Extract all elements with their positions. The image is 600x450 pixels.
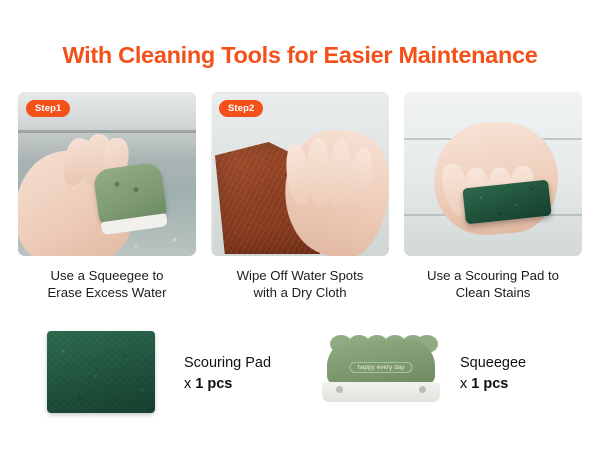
caption-line: Clean Stains [404,284,582,301]
step-card-3: Use a Scouring Pad to Clean Stains [404,92,582,302]
caption-line: with a Dry Cloth [211,284,389,301]
squeegee-screw [336,386,343,393]
step-2-photo: Step2 [211,92,389,256]
squeegee-screw [419,386,426,393]
step-badge: Step1 [26,100,70,117]
step-card-2: Step2 Wipe Off Water Spots with a Dry Cl… [211,92,389,302]
promo-page: With Cleaning Tools for Easier Maintenan… [0,0,600,450]
product-quantity: x 1 pcs [184,376,271,392]
scouring-pad-product-image [47,331,155,413]
scouring-pad-label: Scouring Pad x 1 pcs [184,354,271,392]
caption-line: Erase Excess Water [18,284,196,301]
step-1-caption: Use a Squeegee to Erase Excess Water [18,267,196,302]
product-list-row: Scouring Pad x 1 pcs happy every day Squ… [0,318,600,428]
product-name: Scouring Pad [184,354,271,373]
caption-line: Wipe Off Water Spots [211,267,389,284]
step-3-caption: Use a Scouring Pad to Clean Stains [404,267,582,302]
pad-texture [47,331,155,413]
squeegee-detail-dot [133,187,139,193]
steps-row: Step1 Use a Squeegee to Erase Excess Wat… [18,92,582,302]
step-badge: Step2 [219,100,263,117]
quantity-prefix: x [184,376,195,392]
squeegee-engraving: happy every day [349,362,412,373]
squeegee-tool [92,162,167,227]
caption-line: Use a Squeegee to [18,267,196,284]
product-quantity: x 1 pcs [460,376,526,392]
step-card-1: Step1 Use a Squeegee to Erase Excess Wat… [18,92,196,302]
squeegee-product-image: happy every day [322,340,440,408]
page-title: With Cleaning Tools for Easier Maintenan… [0,42,600,69]
step-3-photo [404,92,582,256]
caption-line: Use a Scouring Pad to [404,267,582,284]
squeegee-label: Squeegee x 1 pcs [460,354,526,392]
step-1-photo: Step1 [18,92,196,256]
step-2-caption: Wipe Off Water Spots with a Dry Cloth [211,267,389,302]
quantity-value: 1 pcs [195,376,232,392]
squeegee-detail-dot [114,181,120,187]
quantity-prefix: x [460,376,471,392]
quantity-value: 1 pcs [471,376,508,392]
product-name: Squeegee [460,354,526,373]
